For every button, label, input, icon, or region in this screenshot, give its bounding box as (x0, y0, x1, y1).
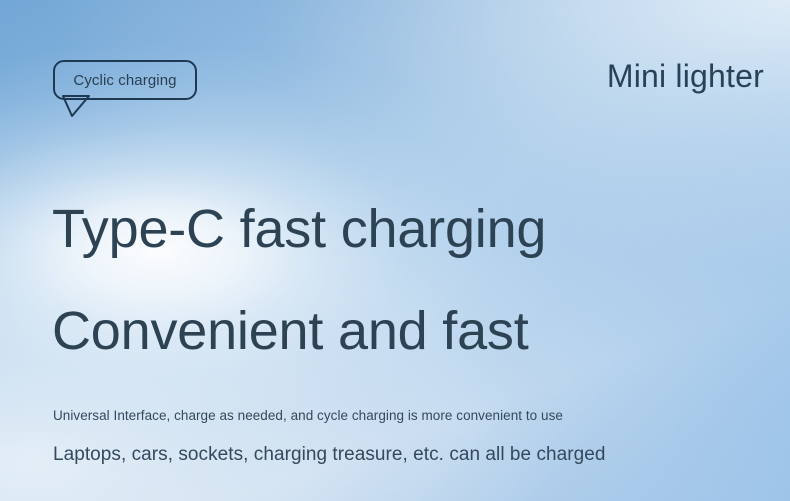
cyclic-charging-label: Cyclic charging (73, 73, 176, 88)
product-banner: Cyclic charging Mini lighter Type-C fast… (0, 0, 790, 501)
speech-bubble-tail-icon (59, 96, 93, 118)
page-title-line-1: Type-C fast charging (52, 202, 546, 256)
cyclic-charging-badge[interactable]: Cyclic charging (53, 60, 197, 100)
mini-lighter-tagline: Mini lighter (607, 60, 764, 92)
page-title-line-2: Convenient and fast (52, 304, 529, 358)
speech-bubble: Cyclic charging (53, 60, 197, 100)
banner-content: Cyclic charging Mini lighter Type-C fast… (0, 0, 790, 501)
feature-description-line-2: Laptops, cars, sockets, charging treasur… (53, 445, 606, 464)
feature-description-line-1: Universal Interface, charge as needed, a… (53, 409, 563, 423)
